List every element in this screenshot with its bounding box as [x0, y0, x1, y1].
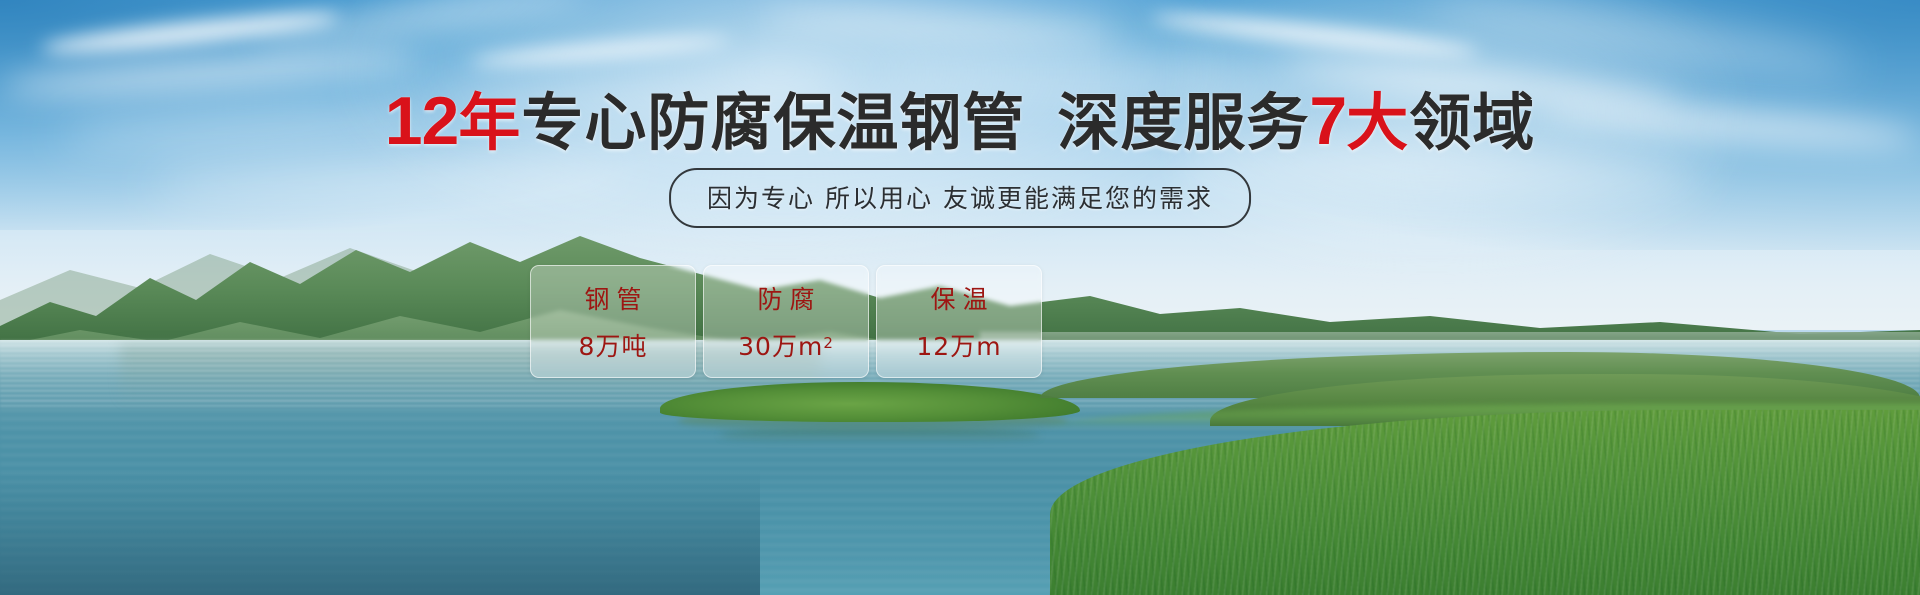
- headline-service-text: 深度服务: [1057, 86, 1309, 159]
- headline-years-number: 12: [385, 83, 459, 159]
- stat-card-value: 8万吨: [579, 327, 648, 363]
- stat-card-value-text: 12万m: [916, 327, 1001, 363]
- stat-card-value: 30万m2: [738, 327, 834, 363]
- banner-headline: 12年专心防腐保温钢管深度服务7大领域: [0, 86, 1920, 157]
- headline-years-unit: 年: [458, 86, 521, 159]
- water-shadow-left: [0, 470, 760, 595]
- island-grass: [660, 382, 1080, 422]
- stat-card-value-text: 30万m: [738, 327, 823, 363]
- headline-fields-number: 7: [1309, 83, 1346, 159]
- headline-main-text: 专心防腐保温钢管: [521, 86, 1025, 159]
- headline-fields-unit: 大: [1346, 86, 1409, 159]
- stat-card[interactable]: 保温 12万m: [876, 265, 1042, 378]
- stat-card-label: 防腐: [750, 280, 821, 316]
- stat-card-value: 12万m: [916, 327, 1001, 363]
- headline-fields-text: 领域: [1409, 86, 1535, 159]
- stat-card-value-text: 8万吨: [579, 327, 648, 363]
- hero-banner: 12年专心防腐保温钢管深度服务7大领域 因为专心 所以用心 友诚更能满足您的需求…: [0, 0, 1920, 595]
- stat-card[interactable]: 防腐 30万m2: [703, 265, 869, 378]
- subtitle-pill: 因为专心 所以用心 友诚更能满足您的需求: [669, 168, 1251, 228]
- grass-island: [660, 382, 1080, 444]
- stat-card-label: 保温: [923, 280, 994, 316]
- stat-card[interactable]: 钢管 8万吨: [530, 265, 696, 378]
- stat-cards: 钢管 8万吨 防腐 30万m2 保温 12万m: [530, 265, 1042, 378]
- stat-card-label: 钢管: [577, 280, 648, 316]
